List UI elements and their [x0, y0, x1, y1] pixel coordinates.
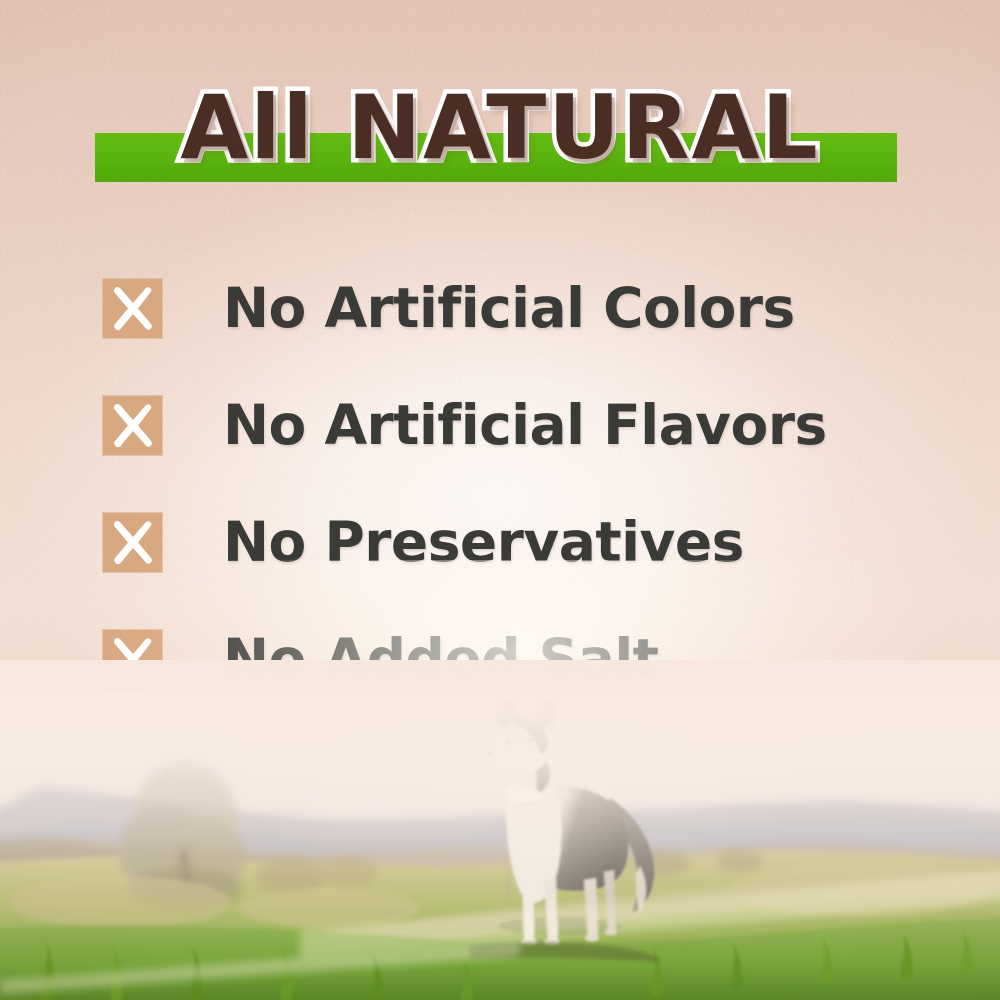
checkbox-checked[interactable] [103, 396, 162, 455]
feature-list: No Artificial Colors No Artificial Flavo… [0, 250, 1000, 718]
checkbox-checked[interactable] [103, 513, 162, 572]
x-mark-icon [103, 396, 162, 455]
list-item-label: No Artificial Flavors [223, 396, 827, 455]
x-mark-icon [103, 279, 162, 338]
list-item-label: No Added Salt [223, 630, 658, 689]
meadow-scene [0, 690, 1000, 1000]
list-item: No Artificial Flavors [0, 367, 1000, 484]
list-item: No Preservatives [0, 484, 1000, 601]
list-item-label: No Preservatives [223, 513, 744, 572]
checkbox-checked[interactable] [103, 279, 162, 338]
landscape-photo [0, 690, 1000, 1000]
checkbox-checked[interactable] [103, 630, 162, 689]
x-mark-icon [103, 630, 162, 689]
header-banner: All NATURAL [0, 72, 1000, 200]
poster-canvas: All NATURAL No Artificial Colors No Arti… [0, 0, 1000, 1000]
page-title: All NATURAL [0, 72, 1000, 184]
list-item-label: No Artificial Colors [223, 279, 795, 338]
x-mark-icon [103, 513, 162, 572]
list-item: No Artificial Colors [0, 250, 1000, 367]
